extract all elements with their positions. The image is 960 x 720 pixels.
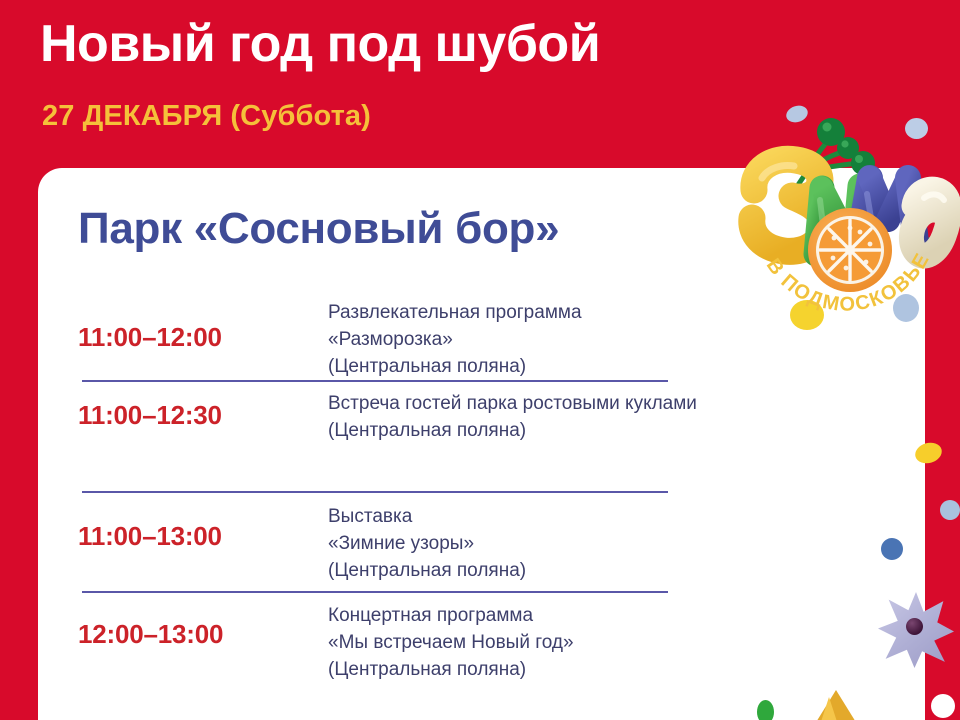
blue-dot-icon xyxy=(940,500,960,520)
gold-cone-highlight-icon xyxy=(818,697,840,720)
schedule-row: 11:00–12:30 Встреча гостей парка ростовы… xyxy=(78,382,678,477)
star-center-icon xyxy=(906,618,923,635)
row-description-line: (Центральная поляна) xyxy=(328,418,697,445)
row-time: 11:00–12:00 xyxy=(78,300,328,353)
row-time: 12:00–13:00 xyxy=(78,593,328,650)
row-description-line: «Разморозка» xyxy=(328,327,678,354)
row-description-line: (Центральная поляна) xyxy=(328,354,678,381)
zima-v-podmoskovye-logo: В ПОДМОСКОВЬЕ Зима в Подмосковье xyxy=(738,78,960,316)
orange-slice-icon xyxy=(808,208,892,292)
event-date: 27 ДЕКАБРЯ (Суббота) xyxy=(42,100,371,133)
row-description: Развлекательная программа «Разморозка» (… xyxy=(328,300,678,381)
logo-letter-a-icon xyxy=(911,189,949,256)
event-poster: Новый год под шубой 27 ДЕКАБРЯ (Суббота)… xyxy=(0,0,960,720)
row-description-line: (Центральная поляна) xyxy=(328,558,678,585)
row-description-line: Концертная программа xyxy=(328,603,678,630)
schedule-row: 11:00–13:00 Выставка «Зимние узоры» (Цен… xyxy=(78,493,678,591)
row-description-line: Развлекательная программа xyxy=(328,300,678,327)
green-dot-icon xyxy=(757,700,774,720)
schedule-list: 11:00–12:00 Развлекательная программа «Р… xyxy=(78,300,678,689)
row-description-line: «Мы встречаем Новый год» xyxy=(328,630,678,657)
row-description-line: «Зимние узоры» xyxy=(328,531,678,558)
park-title: Парк «Сосновый бор» xyxy=(78,204,559,254)
row-description: Выставка «Зимние узоры» (Центральная пол… xyxy=(328,493,678,585)
row-description-line: Выставка xyxy=(328,504,678,531)
row-description-line: Встреча гостей парка ростовыми куклами xyxy=(328,391,697,418)
page-title: Новый год под шубой xyxy=(40,14,600,75)
schedule-row: 12:00–13:00 Концертная программа «Мы вст… xyxy=(78,593,678,689)
row-description: Концертная программа «Мы встречаем Новый… xyxy=(328,593,678,684)
white-dot-icon xyxy=(931,694,955,718)
row-description: Встреча гостей парка ростовыми куклами (… xyxy=(328,382,697,445)
row-time: 11:00–13:00 xyxy=(78,493,328,552)
schedule-row: 11:00–12:00 Развлекательная программа «Р… xyxy=(78,300,678,380)
dark-blue-dot-icon xyxy=(881,538,903,560)
row-description-line: (Центральная поляна) xyxy=(328,657,678,684)
row-time: 11:00–12:30 xyxy=(78,382,328,431)
